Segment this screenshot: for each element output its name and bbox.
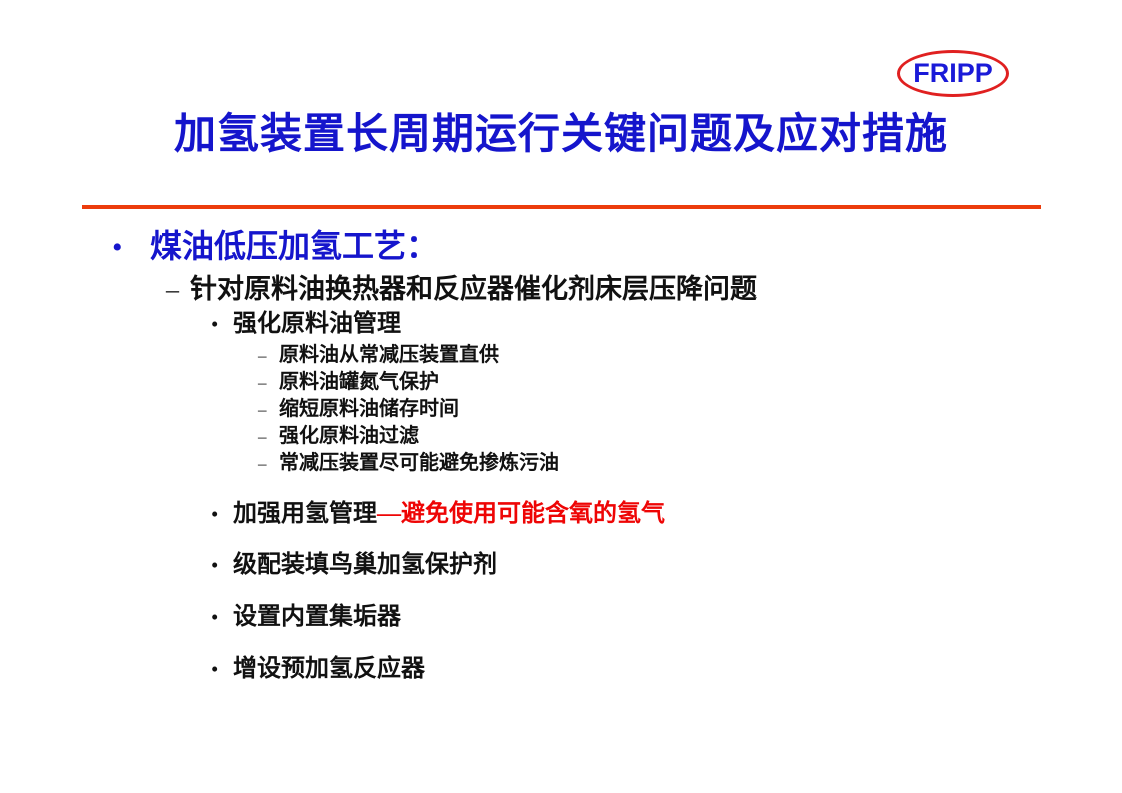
bullet-dot-icon: • <box>211 555 233 576</box>
bullet-dot-icon: • <box>112 233 150 263</box>
slide-title: 加氢装置长周期运行关键问题及应对措施 <box>0 100 1122 161</box>
bullet-text: 强化原料油管理 <box>233 310 401 339</box>
bullet-level3-feedstock-management: • 强化原料油管理 <box>211 310 1122 339</box>
bullet-dash-icon: – <box>258 428 279 445</box>
bullet-level1-kerosene-process: • 煤油低压加氢工艺： <box>112 228 1122 265</box>
bullet-dot-icon: • <box>211 314 233 335</box>
bullet-text: 原料油罐氮气保护 <box>279 369 439 396</box>
bullet-dash-icon: – <box>258 374 279 391</box>
bullet-level2-pressure-drop-issue: – 针对原料油换热器和反应器催化剂床层压降问题 <box>166 274 1122 305</box>
bullet-level4-direct-supply: – 原料油从常减压装置直供 <box>258 342 1122 369</box>
bullet-text: 增设预加氢反应器 <box>233 655 425 684</box>
bullet-dash-icon: – <box>258 347 279 364</box>
bullet-level4-shorten-storage: – 缩短原料油储存时间 <box>258 396 1122 423</box>
bullet-text: 级配装填鸟巢加氢保护剂 <box>233 551 497 580</box>
bullet-dash-icon: – <box>166 277 190 303</box>
bullet-text: 设置内置集垢器 <box>233 603 401 632</box>
bullet-level3-pre-hydro-reactor: • 增设预加氢反应器 <box>211 655 1122 684</box>
bullet-dot-icon: • <box>211 607 233 628</box>
bullet-text: 强化原料油过滤 <box>279 423 419 450</box>
bullet-level3-internal-scale-collector: • 设置内置集垢器 <box>211 603 1122 632</box>
bullet-dash-icon: – <box>258 401 279 418</box>
bullet-level3-hydrogen-management: • 加强用氢管理—避免使用可能含氧的氢气 <box>211 500 1122 529</box>
bullet-text: 缩短原料油储存时间 <box>279 396 459 423</box>
bullet-level3-guard-bed-grading: • 级配装填鸟巢加氢保护剂 <box>211 551 1122 580</box>
bullet-dot-icon: • <box>211 504 233 525</box>
slide-body: • 煤油低压加氢工艺： – 针对原料油换热器和反应器催化剂床层压降问题 • 强化… <box>0 228 1122 687</box>
bullet-text: 常减压装置尽可能避免掺炼污油 <box>279 450 559 477</box>
title-divider <box>82 205 1041 209</box>
bullet-level4-enhance-filtration: – 强化原料油过滤 <box>258 423 1122 450</box>
bullet-dot-icon: • <box>211 659 233 680</box>
bullet-dash-icon: – <box>258 455 279 472</box>
bullet-level4-avoid-slop-oil: – 常减压装置尽可能避免掺炼污油 <box>258 450 1122 477</box>
bullet-text: 煤油低压加氢工艺： <box>150 228 438 265</box>
fripp-logo: FRIPP <box>897 50 1015 103</box>
slide-canvas: FRIPP 加氢装置长周期运行关键问题及应对措施 • 煤油低压加氢工艺： – 针… <box>0 0 1122 793</box>
logo-text: FRIPP <box>897 50 1009 97</box>
bullet-text-group: 加强用氢管理—避免使用可能含氧的氢气 <box>233 500 665 529</box>
bullet-text: 针对原料油换热器和反应器催化剂床层压降问题 <box>190 274 757 305</box>
bullet-level4-nitrogen-blanket: – 原料油罐氮气保护 <box>258 369 1122 396</box>
bullet-text-highlight: —避免使用可能含氧的氢气 <box>377 501 665 527</box>
bullet-text: 加强用氢管理 <box>233 501 377 527</box>
bullet-text: 原料油从常减压装置直供 <box>279 342 499 369</box>
